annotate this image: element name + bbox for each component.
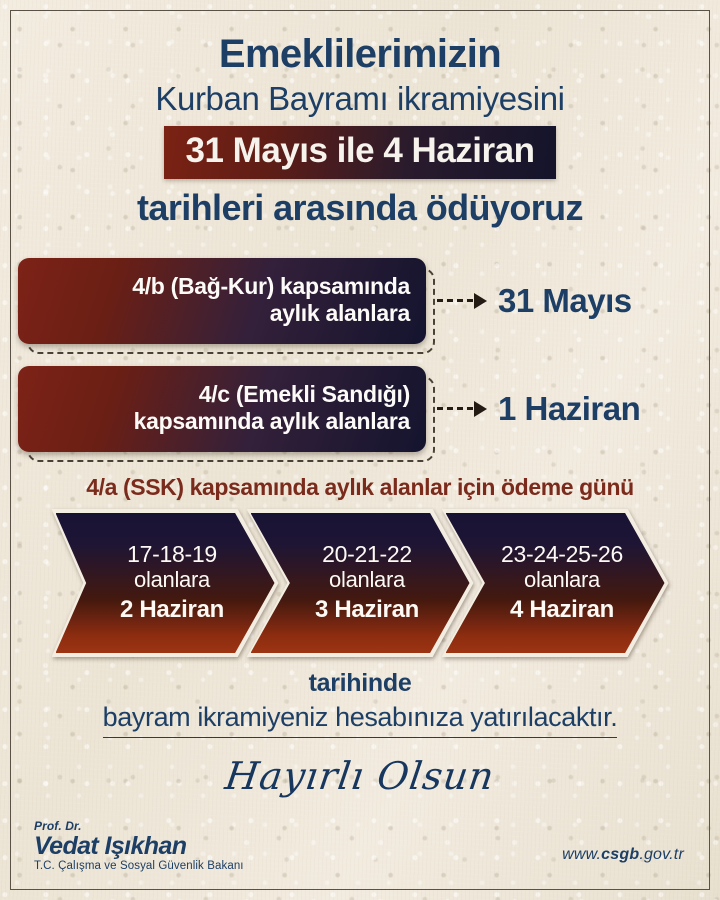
ssk-digits-1: 17-18-19 (127, 541, 217, 567)
ssk-digits-3: 23-24-25-26 (501, 541, 623, 567)
ssk-section-title: 4/a (SSK) kapsamında aylık alanlar için … (18, 474, 702, 501)
arrow-line (437, 299, 473, 302)
arrow-head (474, 293, 487, 309)
header-line-2: Kurban Bayramı ikramiyesini (18, 78, 702, 119)
ssk-digits-2: 20-21-22 (322, 541, 412, 567)
url-prefix: www. (562, 846, 601, 863)
url-suffix: .gov.tr (639, 846, 684, 863)
poster-canvas: Emeklilerimizin Kurban Bayramı ikramiyes… (0, 0, 720, 900)
minister-title: Prof. Dr. (34, 819, 244, 833)
category-date-4b: 31 Mayıs (498, 282, 632, 320)
category-box-wrapper-4c: 4/c (Emekli Sandığı) kapsamında aylık al… (18, 366, 426, 452)
footer-line-1: tarihinde (18, 669, 702, 698)
header-date-badge: 31 Mayıs ile 4 Haziran (164, 126, 557, 179)
category-box-wrapper-4b: 4/b (Bağ-Kur) kapsamında aylık alanlara (18, 258, 426, 344)
category-rows: 4/b (Bağ-Kur) kapsamında aylık alanlara … (18, 258, 702, 452)
minister-role: T.C. Çalışma ve Sosyal Güvenlik Bakanı (34, 860, 244, 872)
header-line-4: tarihleri arasında ödüyoruz (18, 188, 702, 228)
url-brand: csgb (601, 846, 639, 863)
dashed-arrow-icon (426, 290, 498, 312)
ssk-suffix-2: olanlara (329, 567, 405, 592)
website-url[interactable]: www.csgb.gov.tr (562, 846, 684, 864)
chevron-content: 20-21-22 olanlara 3 Haziran (251, 513, 470, 653)
ssk-date-3: 4 Haziran (510, 596, 614, 625)
ssk-date-1: 2 Haziran (120, 596, 224, 625)
category-row-4c: 4/c (Emekli Sandığı) kapsamında aylık al… (18, 366, 702, 452)
arrow-head (474, 401, 487, 417)
category-box-4b: 4/b (Bağ-Kur) kapsamında aylık alanlara (18, 258, 426, 344)
poster-header: Emeklilerimizin Kurban Bayramı ikramiyes… (18, 0, 702, 228)
signature-text: Hayırlı Olsun (15, 754, 705, 798)
ssk-chevron-3: 23-24-25-26 olanlara 4 Haziran (446, 513, 665, 653)
dashed-arrow-icon (426, 398, 498, 420)
ssk-chevron-group: 17-18-19 olanlara 2 Haziran 20-21-22 ola… (18, 513, 702, 653)
ssk-suffix-3: olanlara (524, 567, 600, 592)
category-label-4c-line1: 4/c (Emekli Sandığı) (34, 381, 410, 409)
ssk-chevron-2: 20-21-22 olanlara 3 Haziran (251, 513, 470, 653)
footer-line-2: bayram ikramiyeniz hesabınıza yatırılaca… (103, 702, 618, 738)
minister-name: Vedat Işıkhan (34, 833, 244, 859)
category-label-4c-line2: kapsamında aylık alanlara (34, 408, 410, 436)
ssk-date-2: 3 Haziran (315, 596, 419, 625)
header-line-1: Emeklilerimizin (18, 34, 702, 74)
chevron-content: 17-18-19 olanlara 2 Haziran (56, 513, 275, 653)
category-label-4b-line2: aylık alanlara (34, 300, 410, 328)
minister-credits: Prof. Dr. Vedat Işıkhan T.C. Çalışma ve … (34, 819, 244, 872)
poster-footer: tarihinde bayram ikramiyeniz hesabınıza … (18, 669, 702, 798)
category-date-4c: 1 Haziran (498, 390, 640, 428)
category-row-4b: 4/b (Bağ-Kur) kapsamında aylık alanlara … (18, 258, 702, 344)
arrow-line (437, 407, 473, 410)
category-label-4b-line1: 4/b (Bağ-Kur) kapsamında (34, 273, 410, 301)
ssk-suffix-1: olanlara (134, 567, 210, 592)
category-box-4c: 4/c (Emekli Sandığı) kapsamında aylık al… (18, 366, 426, 452)
ssk-chevron-1: 17-18-19 olanlara 2 Haziran (56, 513, 275, 653)
chevron-content: 23-24-25-26 olanlara 4 Haziran (446, 513, 665, 653)
